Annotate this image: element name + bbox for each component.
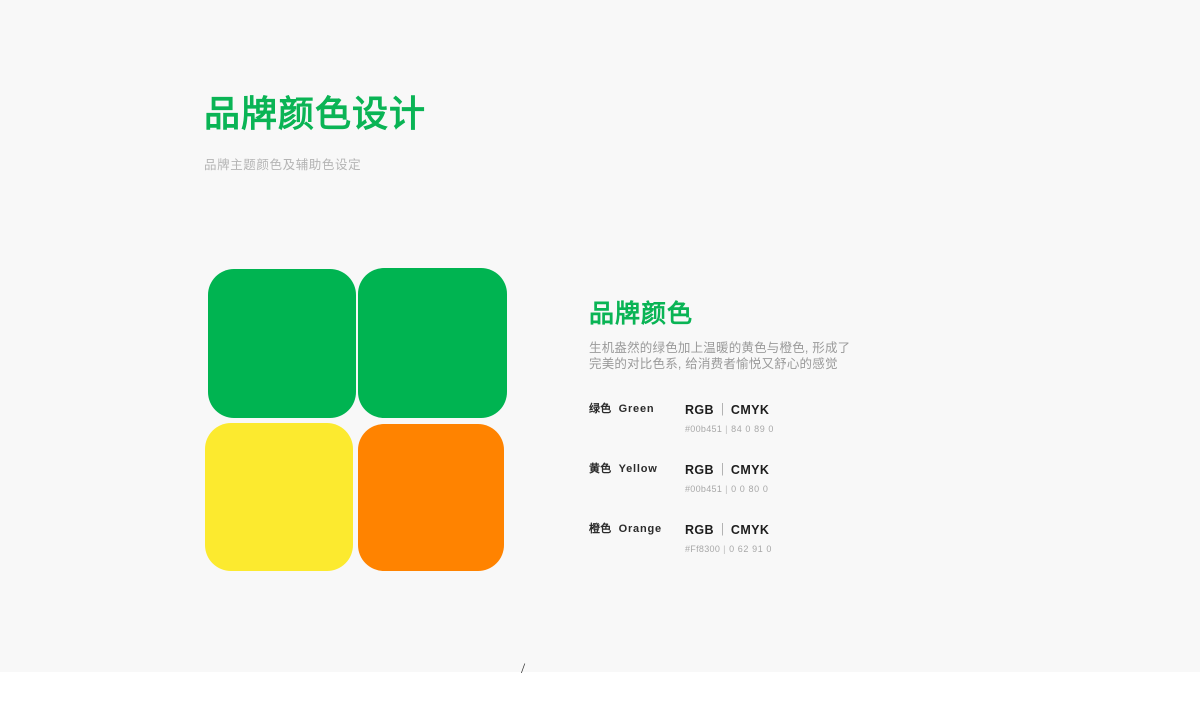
spec-model-line: RGB｜CMYK	[685, 459, 769, 478]
spec-model-cmyk: CMYK	[731, 403, 769, 417]
spec-model-line: RGB｜CMYK	[685, 399, 774, 418]
spec-label-group: 橙色Orange	[589, 520, 689, 536]
spec-model-separator: ｜	[714, 403, 731, 417]
spec-number-separator: |	[722, 484, 731, 494]
spec-model-line: RGB｜CMYK	[685, 519, 772, 538]
spec-name-cn: 黄色	[589, 463, 612, 475]
spec-numbers-line: #00b451|84 0 89 0	[685, 424, 774, 434]
spec-name-en: Orange	[619, 523, 662, 535]
swatch-green-top-right[interactable]	[358, 268, 507, 418]
spec-model-rgb: RGB	[685, 463, 714, 477]
spec-model-separator: ｜	[714, 523, 731, 537]
color-swatch-grid	[205, 268, 507, 571]
swatch-green-top-left[interactable]	[208, 269, 356, 418]
spec-name-en: Green	[619, 403, 655, 415]
info-description-line-1: 生机盎然的绿色加上温暖的黄色与橙色, 形成了	[589, 340, 919, 356]
spec-name-en: Yellow	[619, 463, 658, 475]
spec-numbers-line: #00b451|0 0 80 0	[685, 484, 769, 494]
info-panel-title: 品牌颜色	[589, 298, 919, 330]
spec-cmyk-value: 0 62 91 0	[729, 544, 772, 554]
page-title: 品牌颜色设计	[204, 92, 804, 136]
color-spec-row-yellow: 黄色Yellow RGB｜CMYK #00b451|0 0 80 0	[589, 459, 929, 519]
spec-model-cmyk: CMYK	[731, 463, 769, 477]
swatch-yellow-bottom-left[interactable]	[205, 423, 353, 571]
page-header: 品牌颜色设计 品牌主题颜色及辅助色设定	[204, 92, 804, 174]
spec-cmyk-value: 0 0 80 0	[731, 484, 768, 494]
color-spec-row-orange: 橙色Orange RGB｜CMYK #Ff8300|0 62 91 0	[589, 519, 929, 579]
swatch-orange-bottom-right[interactable]	[358, 424, 504, 571]
slide-canvas: 品牌颜色设计 品牌主题颜色及辅助色设定 品牌颜色 生机盎然的绿色加上温暖的黄色与…	[0, 0, 1200, 672]
spec-hex-value: #Ff8300	[685, 544, 720, 554]
spec-hex-value: #00b451	[685, 484, 722, 494]
color-spec-list: 绿色Green RGB｜CMYK #00b451|84 0 89 0 黄色Yel…	[589, 399, 929, 579]
spec-number-separator: |	[720, 544, 729, 554]
spec-cmyk-value: 84 0 89 0	[731, 424, 774, 434]
brand-color-info-panel: 品牌颜色 生机盎然的绿色加上温暖的黄色与橙色, 形成了 完美的对比色系, 给消费…	[589, 298, 919, 372]
spec-model-rgb: RGB	[685, 403, 714, 417]
spec-model-cmyk: CMYK	[731, 523, 769, 537]
spec-number-separator: |	[722, 424, 731, 434]
spec-value-group: RGB｜CMYK #00b451|84 0 89 0	[685, 399, 774, 434]
spec-numbers-line: #Ff8300|0 62 91 0	[685, 544, 772, 554]
spec-value-group: RGB｜CMYK #Ff8300|0 62 91 0	[685, 519, 772, 554]
spec-model-rgb: RGB	[685, 523, 714, 537]
spec-name-cn: 橙色	[589, 523, 612, 535]
page-subtitle: 品牌主题颜色及辅助色设定	[204, 156, 804, 174]
spec-name-cn: 绿色	[589, 403, 612, 415]
color-spec-row-green: 绿色Green RGB｜CMYK #00b451|84 0 89 0	[589, 399, 929, 459]
info-description-line-2: 完美的对比色系, 给消费者愉悦又舒心的感觉	[589, 356, 919, 372]
info-panel-description: 生机盎然的绿色加上温暖的黄色与橙色, 形成了 完美的对比色系, 给消费者愉悦又舒…	[589, 340, 919, 372]
spec-value-group: RGB｜CMYK #00b451|0 0 80 0	[685, 459, 769, 494]
spec-label-group: 黄色Yellow	[589, 460, 689, 476]
spec-label-group: 绿色Green	[589, 400, 689, 416]
spec-hex-value: #00b451	[685, 424, 722, 434]
footer-slash-mark: /	[521, 662, 525, 677]
spec-model-separator: ｜	[714, 463, 731, 477]
